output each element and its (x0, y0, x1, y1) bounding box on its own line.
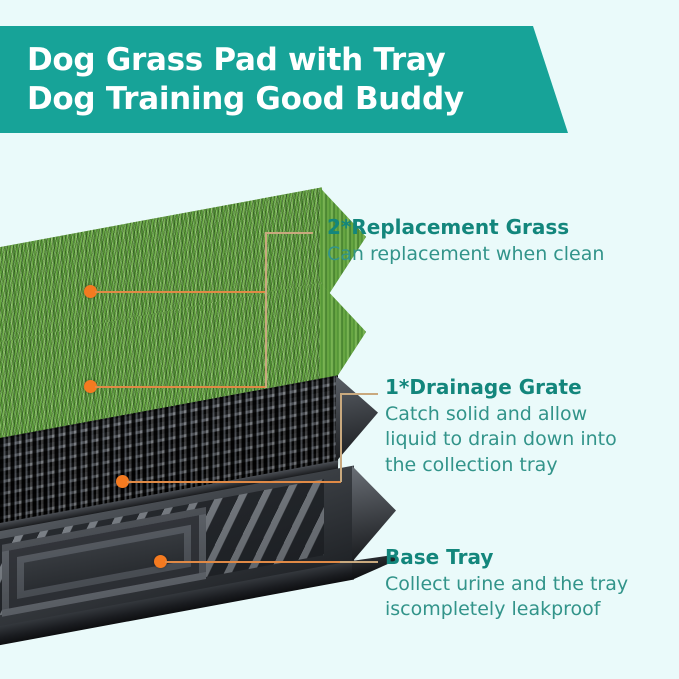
callout-replacement-grass-description: Can replacement when clean (327, 242, 604, 267)
callout-drainage-grate-line-2: liquid to drain down into (385, 427, 617, 452)
leader-line-grass-bottom-horizontal (95, 386, 267, 388)
leader-line-tray-horizontal (165, 561, 340, 563)
callout-base-tray-description: Collect urine and the tray iscompletely … (385, 572, 628, 623)
leader-line-grate-to-callout (340, 393, 378, 395)
callout-drainage-grate-line-1: Catch solid and allow (385, 402, 617, 427)
leader-line-grass-top-horizontal (95, 291, 267, 293)
drainage-grate-rim (336, 368, 378, 462)
leader-line-tray-to-callout (340, 561, 378, 563)
banner-title-line-1: Dog Grass Pad with Tray (27, 41, 568, 79)
callout-base-tray: Base Tray Collect urine and the tray isc… (385, 546, 628, 623)
callout-drainage-grate-description: Catch solid and allow liquid to drain do… (385, 402, 617, 478)
callout-replacement-grass-title: 2*Replacement Grass (327, 216, 604, 240)
callout-drainage-grate-title: 1*Drainage Grate (385, 376, 617, 400)
callout-base-tray-title: Base Tray (385, 546, 628, 570)
leader-line-grass-vertical (265, 232, 267, 388)
leader-line-grate-vertical (340, 393, 342, 482)
header-banner: Dog Grass Pad with Tray Dog Training Goo… (0, 26, 568, 133)
infographic-canvas: Dog Grass Pad with Tray Dog Training Goo… (0, 0, 679, 679)
callout-base-tray-line-1: Collect urine and the tray (385, 572, 628, 597)
callout-drainage-grate-line-3: the collection tray (385, 453, 617, 478)
banner-title-line-2: Dog Training Good Buddy (27, 80, 568, 118)
leader-line-grass-to-callout (265, 232, 313, 234)
leader-line-grate-horizontal (127, 481, 341, 483)
callout-base-tray-line-2: iscompletely leakproof (385, 597, 628, 622)
callout-replacement-grass-line-1: Can replacement when clean (327, 242, 604, 267)
callout-replacement-grass: 2*Replacement Grass Can replacement when… (327, 216, 604, 267)
callout-drainage-grate: 1*Drainage Grate Catch solid and allow l… (385, 376, 617, 478)
